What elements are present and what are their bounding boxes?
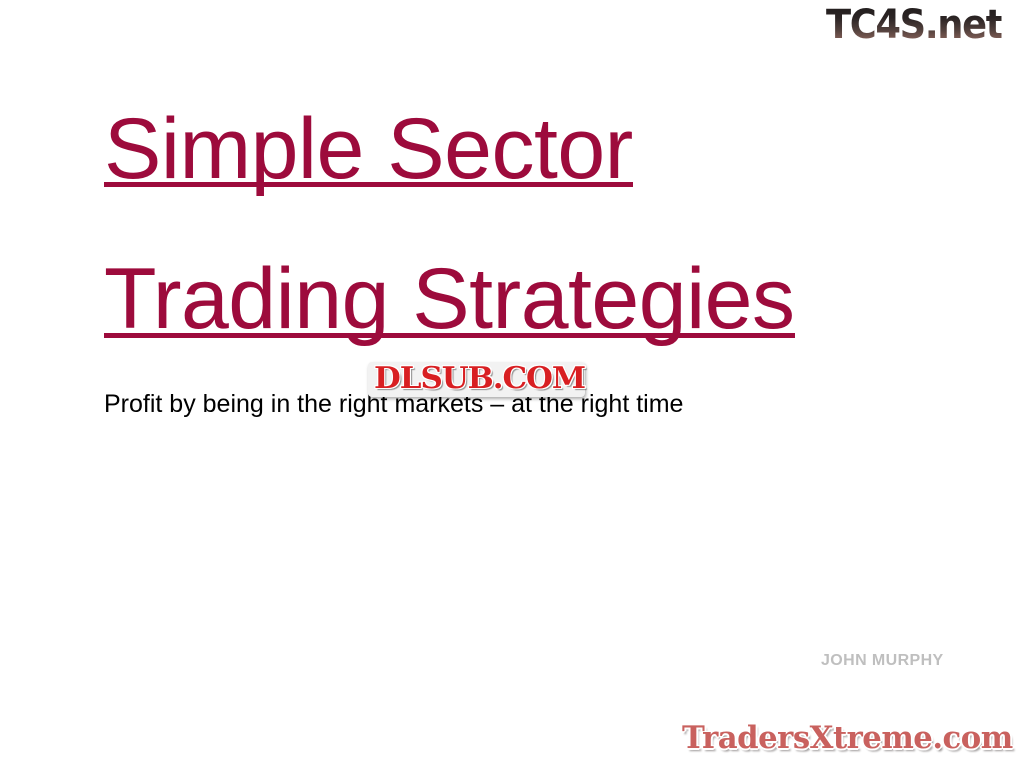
slide-title-line-1: Simple Sector (104, 104, 934, 194)
tradersxtreme-logo-text: TradersXtreme.com (682, 723, 1013, 754)
tc4s-logo-text: TC4S.net (826, 5, 1002, 45)
slide-title-block: Simple Sector Trading Strategies (104, 104, 934, 345)
slide-title-line-2-text: Trading Strategies (104, 254, 795, 344)
tc4s-logo: TC4S.net (826, 2, 1024, 48)
presentation-slide: TC4S.net Simple Sector Trading Strategie… (0, 0, 1024, 768)
tradersxtreme-logo: TradersXtreme.com (682, 716, 1020, 760)
slide-title-line-2: Trading Strategies (104, 254, 934, 344)
dlsub-watermark: DLSUB.COM (368, 362, 585, 397)
dlsub-watermark-text: DLSUB.COM (374, 364, 585, 394)
slide-title-line-1-text: Simple Sector (104, 104, 633, 194)
author-credit: JOHN MURPHY (821, 652, 944, 670)
